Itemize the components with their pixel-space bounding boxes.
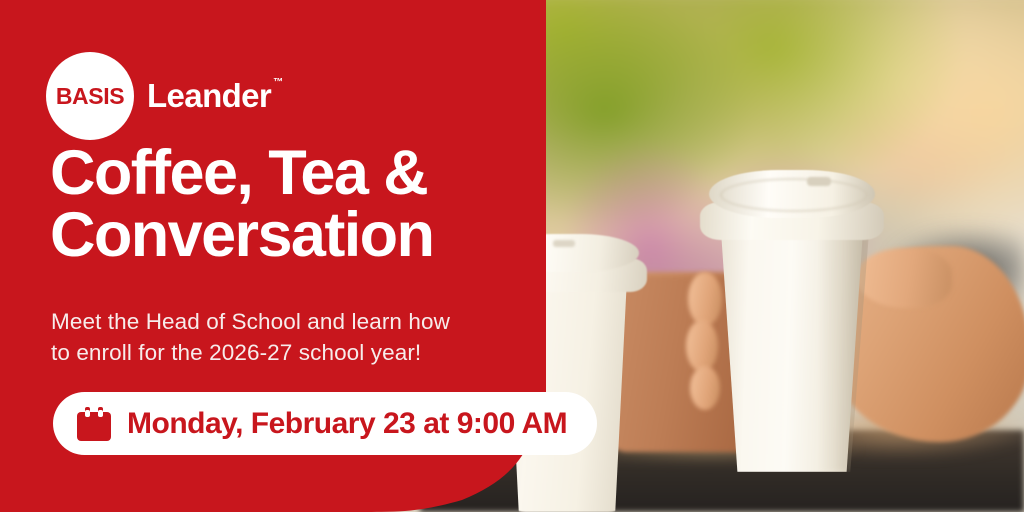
headline: Coffee, Tea & Conversation	[50, 143, 550, 266]
brand-word-mark: Leander™	[147, 77, 283, 115]
coffee-cup-front	[700, 162, 884, 474]
subtitle: Meet the Head of School and learn how to…	[51, 306, 521, 368]
brand-logo: BASIS Leander™	[46, 52, 283, 140]
cup-back-lid-tab	[553, 240, 575, 247]
brand-word-mark-text: Leander	[147, 77, 271, 114]
calendar-icon-notch-right	[98, 410, 103, 417]
event-date-text: Monday, February 23 at 9:00 AM	[127, 407, 567, 441]
calendar-icon-notch-left	[85, 410, 90, 417]
calendar-icon-body	[77, 412, 111, 441]
event-date-pill[interactable]: Monday, February 23 at 9:00 AM	[53, 392, 597, 455]
cup-front-lid-ring	[720, 178, 868, 212]
calendar-icon	[77, 407, 111, 441]
promotional-banner: BASIS Leander™ Coffee, Tea & Conversatio…	[0, 0, 1024, 512]
circle-badge-icon: BASIS	[46, 52, 134, 140]
trademark-symbol: ™	[273, 77, 282, 88]
cup-front-body-shading	[818, 220, 870, 472]
brand-badge-text: BASIS	[56, 83, 124, 110]
cup-front-lid-tab	[807, 177, 831, 186]
